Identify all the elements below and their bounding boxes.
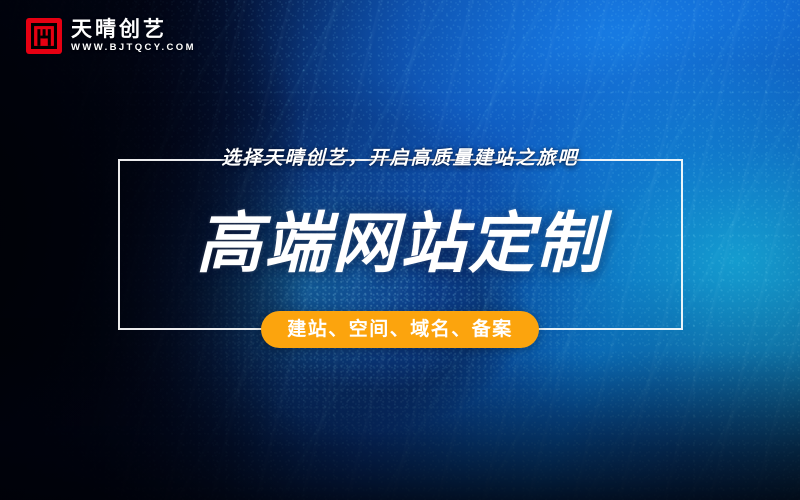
logo-text-block: 天晴创艺 WWW.BJTQCY.COM (71, 19, 196, 53)
headline-row: 高端网站定制 (0, 206, 800, 280)
services-cta-button[interactable]: 建站、空间、域名、备案 (261, 311, 539, 348)
hero-headline: 高端网站定制 (196, 206, 604, 280)
tagline-row: 选择天晴创艺，开启高质量建站之旅吧 (0, 145, 800, 173)
hero-tagline: 选择天晴创艺，开启高质量建站之旅吧 (203, 145, 596, 173)
tianqing-square-mark-icon (26, 18, 62, 54)
brand-logo[interactable]: 天晴创艺 WWW.BJTQCY.COM (26, 18, 196, 54)
cta-row: 建站、空间、域名、备案 (0, 311, 800, 348)
logo-website-url: WWW.BJTQCY.COM (71, 43, 196, 53)
logo-company-name: 天晴创艺 (71, 19, 196, 40)
promotional-banner: 天晴创艺 WWW.BJTQCY.COM 选择天晴创艺，开启高质量建站之旅吧 高端… (0, 0, 800, 500)
